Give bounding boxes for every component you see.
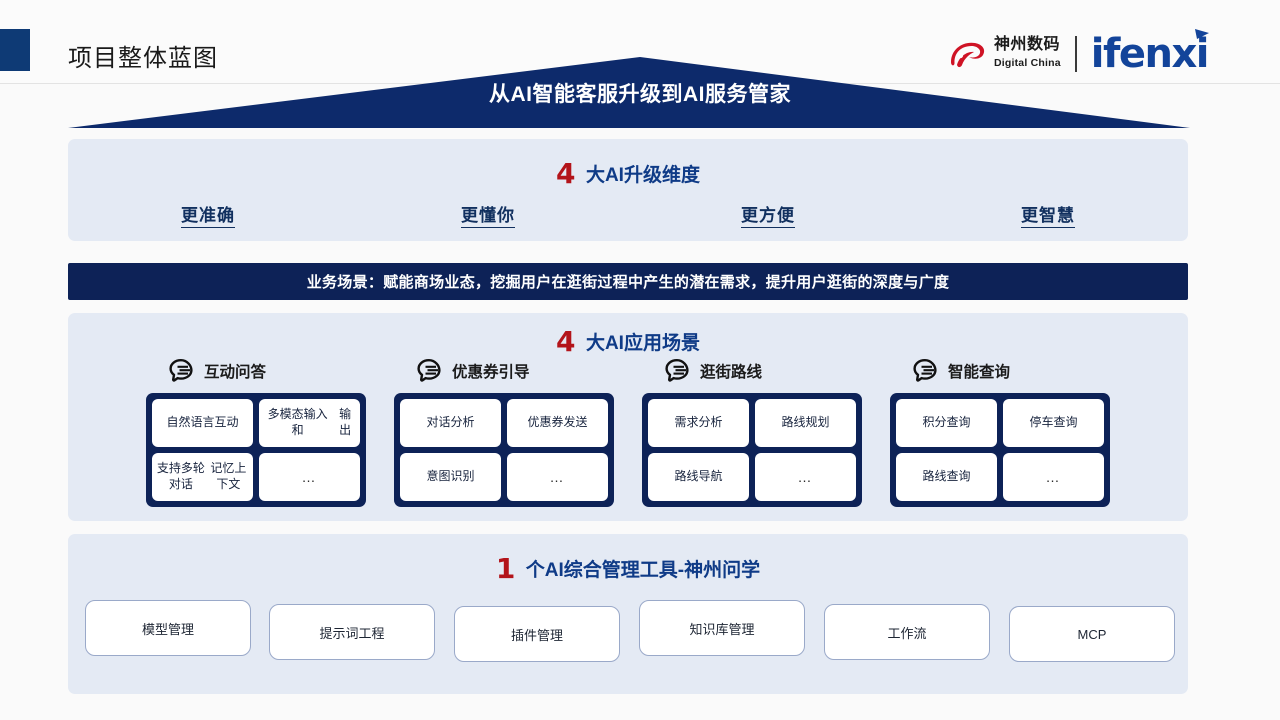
logo-company-cn: 神州数码	[994, 36, 1060, 53]
scenario-cell[interactable]: 优惠券发送	[507, 399, 608, 447]
dimensions-list: 更准确 更懂你 更方便 更智慧	[68, 201, 1188, 226]
scenario-box: 对话分析优惠券发送意图识别…	[394, 393, 614, 507]
scenario-cell[interactable]: 路线导航	[648, 453, 749, 501]
scenario-cell[interactable]: 支持多轮对话记忆上下文	[152, 453, 253, 501]
scenario-group-4: 智能查询积分查询停车查询路线查询…	[890, 355, 1110, 507]
scenario-group-2: 优惠券引导对话分析优惠券发送意图识别…	[394, 355, 614, 507]
tool-box-4[interactable]: 知识库管理	[639, 600, 805, 656]
chat-bubble-ai-icon	[168, 358, 194, 384]
tool-box-label: 工作流	[887, 623, 926, 642]
scenario-group-title: 逛街路线	[700, 360, 762, 382]
scenario-group-title: 智能查询	[948, 360, 1010, 382]
scenario-cell[interactable]: 需求分析	[648, 399, 749, 447]
banner-title: 从AI智能客服升级到AI服务管家	[0, 78, 1280, 108]
tool-list: 模型管理提示词工程插件管理知识库管理工作流MCP	[84, 600, 1172, 662]
scenario-group-header: 智能查询	[890, 355, 1110, 387]
scenario-group-title: 互动问答	[204, 360, 266, 382]
tool-box-6[interactable]: MCP	[1009, 606, 1175, 662]
tool-panel: 1 个AI综合管理工具-神州问学 模型管理提示词工程插件管理知识库管理工作流MC…	[68, 534, 1188, 694]
scenario-group-header: 逛街路线	[642, 355, 862, 387]
scenario-cell[interactable]: 路线查询	[896, 453, 997, 501]
scenario-groups: 互动问答自然语言互动多模态输入和输出支持多轮对话记忆上下文… 优惠券引导对话分析…	[68, 355, 1188, 507]
tool-box-label: 模型管理	[142, 619, 194, 638]
tool-heading: 1 个AI综合管理工具-神州问学	[68, 552, 1188, 585]
dimensions-panel: 4 大AI升级维度 更准确 更懂你 更方便 更智慧	[68, 139, 1188, 241]
chat-bubble-ai-icon	[912, 358, 938, 384]
tool-heading-label: 个AI综合管理工具-神州问学	[526, 560, 760, 581]
tool-box-2[interactable]: 提示词工程	[269, 604, 435, 660]
tool-box-label: 插件管理	[511, 625, 563, 644]
scenario-box: 积分查询停车查询路线查询…	[890, 393, 1110, 507]
scenario-cell[interactable]: 意图识别	[400, 453, 501, 501]
scenarios-heading: 4 大AI应用场景	[68, 325, 1188, 358]
tool-count: 1	[496, 552, 515, 585]
tool-box-1[interactable]: 模型管理	[85, 600, 251, 656]
scenario-cell[interactable]: …	[507, 453, 608, 501]
dimension-label: 更准确	[181, 206, 235, 228]
scenario-cell[interactable]: 停车查询	[1003, 399, 1104, 447]
scenario-group-title: 优惠券引导	[452, 360, 530, 382]
scenario-cell[interactable]: …	[259, 453, 360, 501]
dimension-item-1[interactable]: 更准确	[68, 201, 348, 226]
dimension-label: 更懂你	[461, 206, 515, 228]
dimensions-heading-label: 大AI升级维度	[586, 165, 700, 186]
scenarios-count: 4	[556, 325, 575, 358]
scenarios-heading-label: 大AI应用场景	[586, 333, 700, 354]
scenarios-panel: 4 大AI应用场景 互动问答自然语言互动多模态输入和输出支持多轮对话记忆上下文……	[68, 313, 1188, 521]
dimension-label: 更智慧	[1021, 206, 1075, 228]
chat-bubble-ai-icon	[416, 358, 442, 384]
scenario-group-header: 互动问答	[146, 355, 366, 387]
dimensions-count: 4	[556, 157, 575, 190]
scenario-box: 需求分析路线规划路线导航…	[642, 393, 862, 507]
dimension-item-3[interactable]: 更方便	[628, 201, 908, 226]
chat-bubble-ai-icon	[664, 358, 690, 384]
scenario-box: 自然语言互动多模态输入和输出支持多轮对话记忆上下文…	[146, 393, 366, 507]
flag-accent-icon	[1194, 28, 1210, 51]
dimension-item-4[interactable]: 更智慧	[908, 201, 1188, 226]
scenario-cell[interactable]: 对话分析	[400, 399, 501, 447]
dimensions-heading: 4 大AI升级维度	[68, 157, 1188, 190]
scenario-cell[interactable]: …	[1003, 453, 1104, 501]
scenario-cell[interactable]: 多模态输入和输出	[259, 399, 360, 447]
scenario-cell[interactable]: 自然语言互动	[152, 399, 253, 447]
scenario-cell[interactable]: 路线规划	[755, 399, 856, 447]
business-scenario-bar: 业务场景：赋能商场业态，挖掘用户在逛街过程中产生的潜在需求，提升用户逛街的深度与…	[68, 263, 1188, 300]
scenario-cell[interactable]: 积分查询	[896, 399, 997, 447]
scenario-group-1: 互动问答自然语言互动多模态输入和输出支持多轮对话记忆上下文…	[146, 355, 366, 507]
scenario-group-3: 逛街路线需求分析路线规划路线导航…	[642, 355, 862, 507]
dimension-label: 更方便	[741, 206, 795, 228]
tool-box-label: MCP	[1078, 627, 1107, 642]
tool-box-3[interactable]: 插件管理	[454, 606, 620, 662]
tool-box-label: 知识库管理	[689, 619, 754, 638]
tool-box-5[interactable]: 工作流	[824, 604, 990, 660]
dimension-item-2[interactable]: 更懂你	[348, 201, 628, 226]
business-scenario-text: 业务场景：赋能商场业态，挖掘用户在逛街过程中产生的潜在需求，提升用户逛街的深度与…	[307, 271, 950, 292]
tool-box-label: 提示词工程	[319, 623, 384, 642]
scenario-group-header: 优惠券引导	[394, 355, 614, 387]
scenario-cell[interactable]: …	[755, 453, 856, 501]
